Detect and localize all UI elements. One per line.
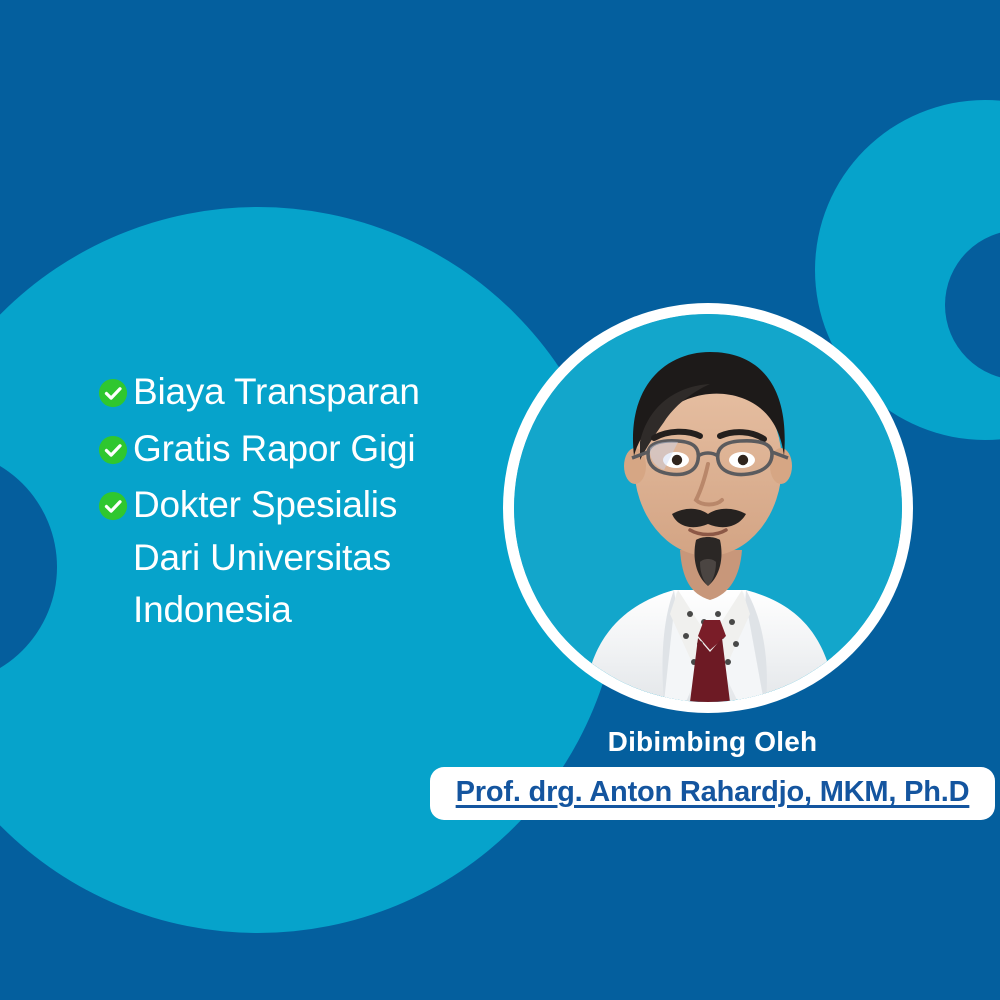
benefits-list: Biaya Transparan Gratis Rapor Gigi Dokte… xyxy=(98,366,498,641)
check-circle-icon xyxy=(98,378,128,408)
benefit-label: Gratis Rapor Gigi xyxy=(133,423,415,476)
check-circle-icon xyxy=(98,435,128,465)
check-circle-icon xyxy=(98,491,128,521)
doctor-name-label: Prof. drg. Anton Rahardjo, MKM, Ph.D xyxy=(456,776,970,808)
list-item: Dokter Spesialis Dari Universitas Indone… xyxy=(98,479,498,637)
caption-block: Dibimbing Oleh Prof. drg. Anton Rahardjo… xyxy=(430,726,995,820)
avatar xyxy=(514,314,902,702)
promo-card: Biaya Transparan Gratis Rapor Gigi Dokte… xyxy=(0,0,1000,1000)
status-badge: Prof. drg. Anton Rahardjo, MKM, Ph.D xyxy=(430,767,995,820)
list-item: Biaya Transparan xyxy=(98,366,498,419)
benefit-label: Biaya Transparan xyxy=(133,366,420,419)
benefit-label: Dokter Spesialis Dari Universitas Indone… xyxy=(133,479,397,637)
caption-title: Dibimbing Oleh xyxy=(430,726,995,758)
doctor-portrait-frame xyxy=(503,303,913,713)
list-item: Gratis Rapor Gigi xyxy=(98,423,498,476)
